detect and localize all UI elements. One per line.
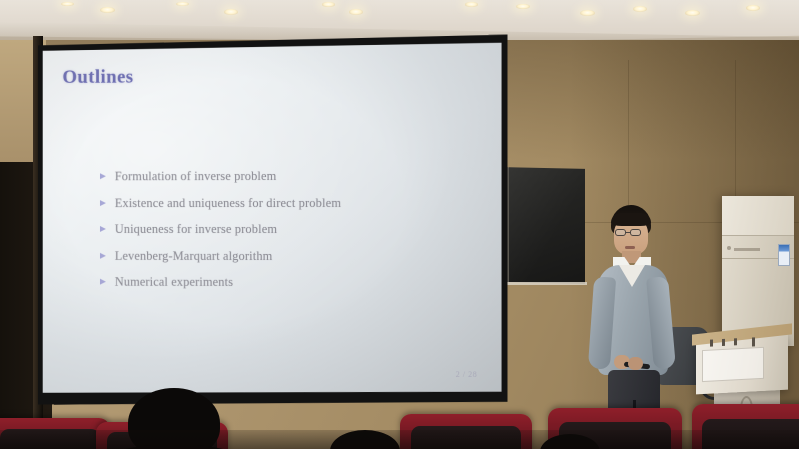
bullet-item: Existence and uniqueness for direct prob… [100, 195, 440, 210]
ceiling-light [633, 6, 647, 12]
triangle-bullet-icon [100, 200, 106, 206]
ceiling-light [61, 2, 73, 6]
bullet-label: Formulation of inverse problem [115, 169, 277, 184]
bullet-label: Existence and uniqueness for direct prob… [115, 195, 341, 210]
foreground-shadow [0, 430, 799, 449]
presentation-slide: Outlines Formulation of inverse problemE… [43, 43, 502, 396]
energy-label-sticker [778, 244, 790, 266]
ceiling-light [685, 10, 699, 16]
ceiling-light [100, 7, 114, 13]
bullet-item: Levenberg-Marquart algorithm [100, 248, 440, 263]
blackboard-ledge [507, 282, 587, 285]
ceiling-light [465, 2, 478, 7]
air-conditioner-brand-mark [727, 246, 731, 250]
ceiling-light [746, 5, 760, 11]
lecture-hall-photo: Outlines Formulation of inverse problemE… [0, 0, 799, 449]
screen-surface: Outlines Formulation of inverse problemE… [43, 43, 502, 396]
triangle-bullet-icon [100, 252, 106, 258]
ceiling-light [176, 2, 189, 6]
bullet-item: Formulation of inverse problem [100, 169, 440, 184]
slide-title: Outlines [62, 67, 133, 89]
glasses-bridge [626, 232, 630, 233]
ceiling-light [349, 9, 363, 15]
bullet-label: Levenberg-Marquart algorithm [115, 248, 273, 263]
bullet-label: Uniqueness for inverse problem [115, 222, 277, 237]
bullet-item: Numerical experiments [100, 275, 440, 291]
glasses-left-lens [615, 229, 626, 236]
presenter-right-hand [628, 357, 643, 370]
bullet-item: Uniqueness for inverse problem [100, 222, 440, 237]
glasses-right-lens [630, 229, 641, 236]
podium-front-panel [702, 347, 764, 382]
air-conditioner-brand-text [734, 248, 760, 251]
slide-page-number: 2 / 28 [456, 370, 477, 379]
projection-screen: Outlines Formulation of inverse problemE… [38, 35, 508, 408]
podium-control-4[interactable] [752, 337, 755, 346]
blackboard [507, 167, 585, 284]
podium-control-3[interactable] [734, 338, 737, 345]
podium-control-2[interactable] [722, 339, 725, 346]
presenter-mouth [625, 246, 635, 249]
podium [696, 334, 788, 395]
triangle-bullet-icon [100, 173, 106, 179]
bullet-label: Numerical experiments [115, 275, 233, 290]
blackboard-sheen [509, 167, 585, 284]
slide-bullet-list: Formulation of inverse problemExistence … [100, 169, 440, 302]
presenter-hair-fringe [611, 213, 651, 226]
triangle-bullet-icon [100, 226, 106, 232]
triangle-bullet-icon [100, 279, 106, 285]
air-conditioner-top-panel [722, 196, 794, 236]
ceiling-light [580, 10, 594, 16]
podium-control-1[interactable] [710, 340, 713, 347]
